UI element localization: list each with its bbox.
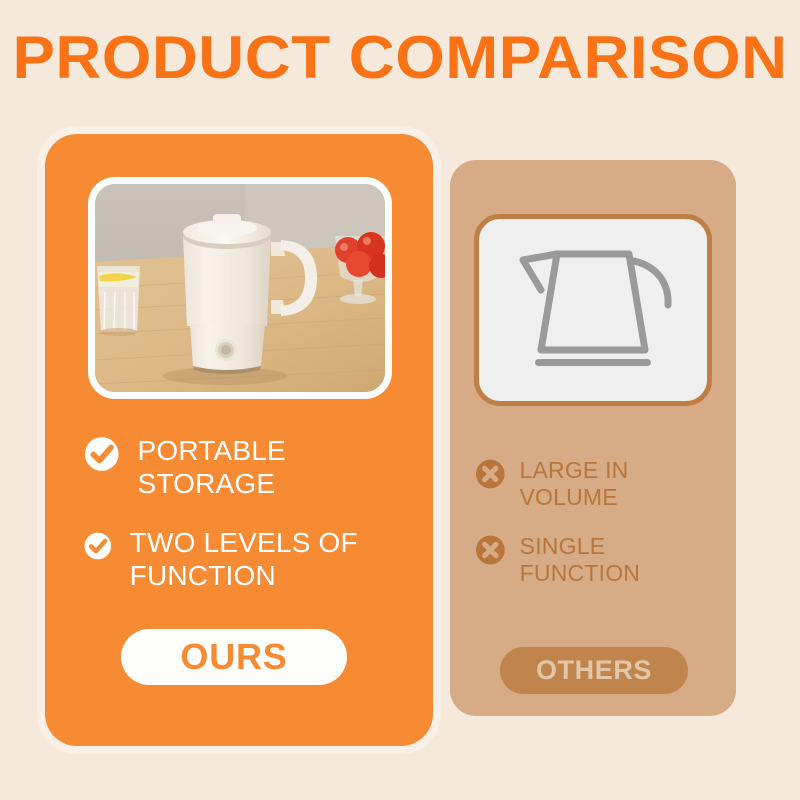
list-item-label: PORTABLE STORAGE: [137, 434, 413, 500]
ours-badge-label: OURS: [180, 636, 287, 678]
list-item: LARGE IN VOLUME: [474, 457, 724, 511]
product-comparison-infographic: PRODUCT COMPARISON: [0, 0, 800, 800]
page-title: PRODUCT COMPARISON: [0, 26, 800, 90]
ours-card: PORTABLE STORAGE TWO LEVELS OF FUNCTION: [45, 134, 433, 746]
list-item-label: LARGE IN VOLUME: [520, 457, 725, 511]
check-circle-icon: [83, 526, 113, 566]
list-item-label: TWO LEVELS OF FUNCTION: [130, 526, 413, 592]
ours-feature-list: PORTABLE STORAGE TWO LEVELS OF FUNCTION: [83, 434, 413, 618]
lemon-water-glass: [97, 266, 140, 336]
others-feature-list: LARGE IN VOLUME: [474, 457, 724, 609]
others-badge: OTHERS: [500, 647, 688, 694]
ours-badge: OURS: [121, 629, 347, 685]
list-item: SINGLE FUNCTION: [474, 533, 724, 587]
product-photo-image: [95, 184, 385, 392]
product-photo: [95, 184, 385, 392]
list-item-label: SINGLE FUNCTION: [520, 533, 724, 587]
cross-circle-icon: [474, 533, 507, 567]
check-circle-icon: [83, 434, 120, 474]
list-item: TWO LEVELS OF FUNCTION: [83, 526, 413, 592]
kettle-outline-icon: [479, 219, 707, 401]
cross-circle-icon: [474, 457, 507, 491]
list-item: PORTABLE STORAGE: [83, 434, 413, 500]
others-card: LARGE IN VOLUME: [450, 160, 736, 716]
others-product-icon-panel: [474, 214, 712, 406]
others-badge-label: OTHERS: [536, 655, 652, 686]
